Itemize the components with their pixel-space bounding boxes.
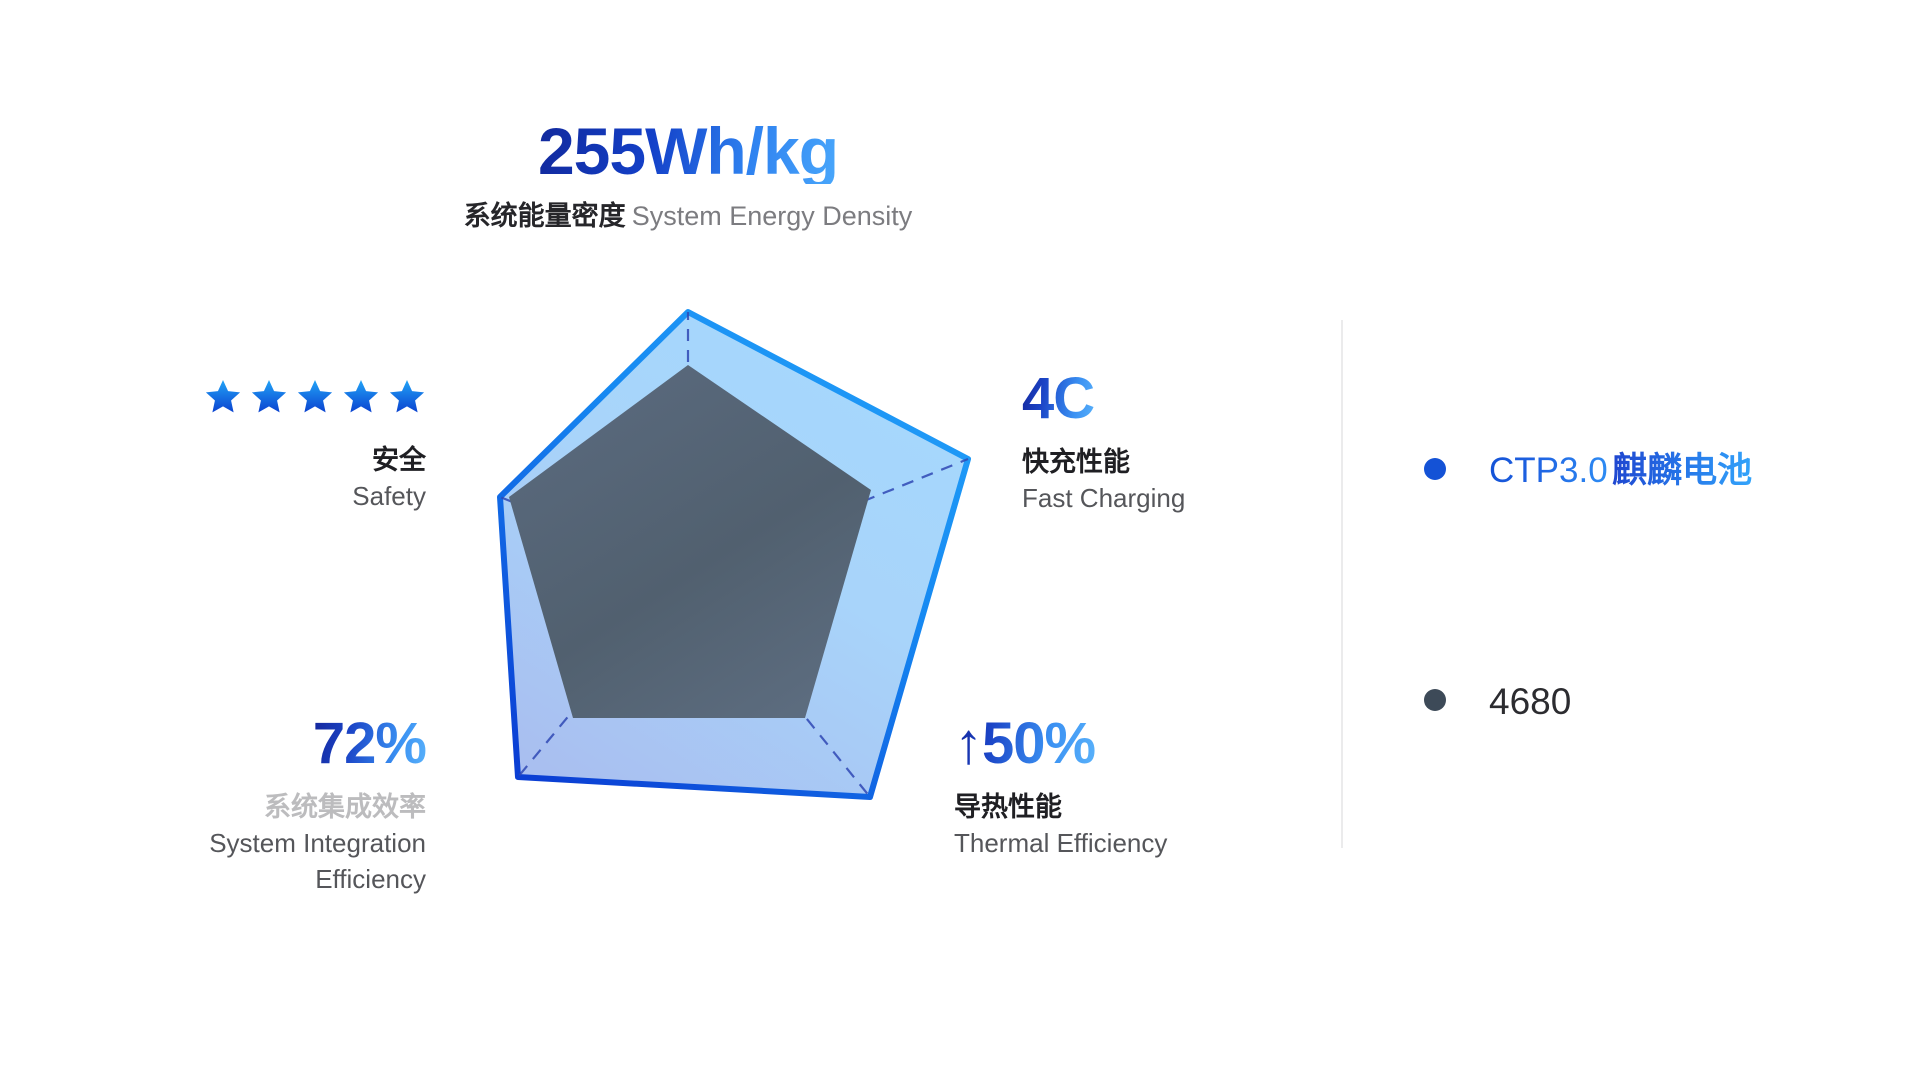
legend-4680-line1: 4680 [1489,679,1571,724]
chart-legend: CTP3.0 麒麟电池 4680 [1424,448,1844,724]
integration-efficiency-value: 72% [313,715,426,773]
legend-dot-icon [1424,458,1446,480]
legend-ctp-line1: CTP3.0 [1489,450,1608,493]
integration-efficiency-label-cn: 系统集成效率 [20,791,426,825]
headline-subtitle: 系统能量密度System Energy Density [0,200,1376,232]
star-icon [388,378,426,416]
vertical-divider [1341,320,1343,848]
infographic-canvas: 255Wh/kg 系统能量密度System Energy Density [0,0,1920,1080]
headline-label-cn: 系统能量密度 [464,201,626,231]
headline-value: 255Wh/kg [538,118,838,184]
integration-efficiency-label-en: System Integration [20,827,426,861]
legend-item-ctp: CTP3.0 麒麟电池 [1424,448,1844,493]
star-icon [250,378,288,416]
star-icon [204,378,242,416]
metric-fast-charging: 4C 快充性能 Fast Charging [1022,370,1322,516]
star-icon [342,378,380,416]
metric-safety: 安全 Safety [40,378,426,514]
thermal-efficiency-value: ↑50% [954,715,1095,773]
star-icon [296,378,334,416]
safety-label-cn: 安全 [40,444,426,478]
fast-charging-label-en: Fast Charging [1022,482,1322,516]
headline-block: 255Wh/kg 系统能量密度System Energy Density [0,118,1376,232]
safety-label-en: Safety [40,480,426,514]
thermal-efficiency-label-en: Thermal Efficiency [954,827,1324,861]
radar-chart [470,280,1010,840]
integration-efficiency-label-en2: Efficiency [20,863,426,897]
safety-star-rating [40,378,426,416]
legend-dot-icon [1424,689,1446,711]
legend-ctp-line2: 麒麟电池 [1612,450,1752,493]
metric-integration-efficiency: 72% 系统集成效率 System Integration Efficiency [20,715,426,896]
fast-charging-value: 4C [1022,370,1094,428]
thermal-efficiency-label-cn: 导热性能 [954,791,1324,825]
legend-label-4680: 4680 [1489,679,1571,724]
legend-label-ctp: CTP3.0 麒麟电池 [1489,448,1752,493]
legend-item-4680: 4680 [1424,679,1844,724]
radar-chart-svg [470,280,1010,840]
headline-label-en: System Energy Density [632,201,913,231]
metric-thermal-efficiency: ↑50% 导热性能 Thermal Efficiency [954,715,1324,861]
fast-charging-label-cn: 快充性能 [1022,446,1322,480]
